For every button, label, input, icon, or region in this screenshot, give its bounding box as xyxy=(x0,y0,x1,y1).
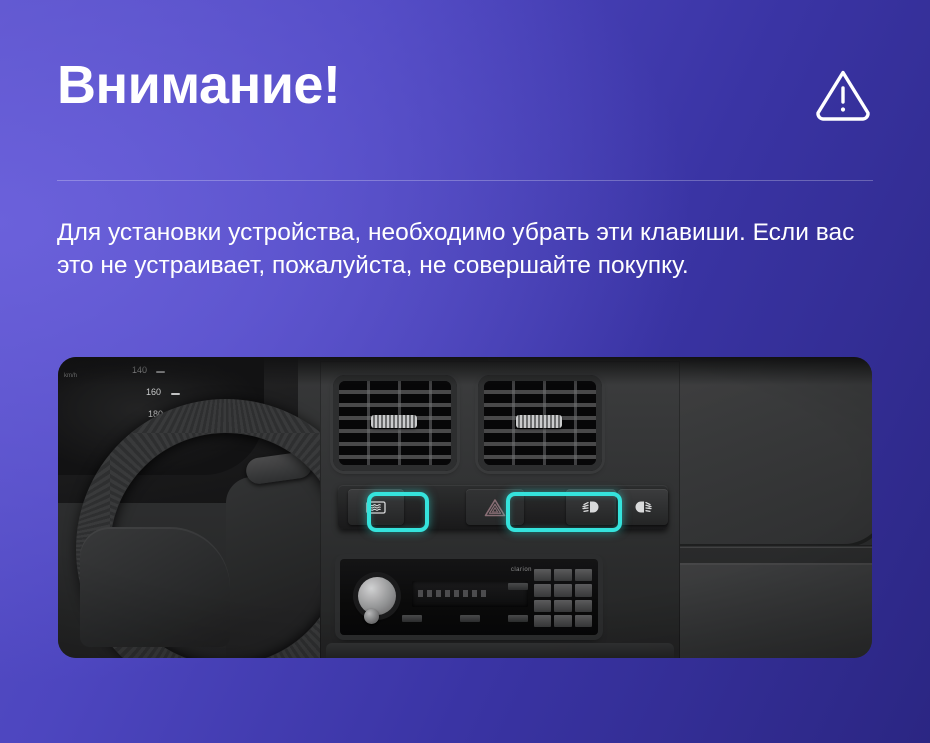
stereo-preset-button[interactable] xyxy=(554,600,571,612)
stereo-preset-button[interactable] xyxy=(554,584,571,596)
hazard-triangle-icon xyxy=(484,498,506,517)
air-vent-right xyxy=(478,375,602,471)
stereo-brand-label: clarion xyxy=(511,567,532,573)
speed-tick-160: 160 xyxy=(146,387,161,397)
vent-adjust-knob xyxy=(516,415,562,428)
warning-slide: Внимание! Для установки устройства, необ… xyxy=(0,0,930,743)
stereo-side-button[interactable] xyxy=(508,583,528,590)
stereo-preset-buttons[interactable] xyxy=(534,569,592,627)
hazard-lights-key[interactable] xyxy=(466,489,524,525)
warning-triangle-icon xyxy=(813,66,873,122)
stereo-preset-button[interactable] xyxy=(575,569,592,581)
volume-knob[interactable] xyxy=(358,577,396,615)
stereo-preset-button[interactable] xyxy=(534,600,551,612)
header: Внимание! xyxy=(57,52,873,132)
rear-defroster-icon xyxy=(366,501,386,514)
speed-tick-dash xyxy=(171,393,180,395)
stereo-preset-button[interactable] xyxy=(534,584,551,596)
photo-scene: km/h 140 160 180 200 xyxy=(58,357,872,658)
stereo-preset-button[interactable] xyxy=(575,584,592,596)
body-paragraph: Для установки устройства, необходимо убр… xyxy=(57,216,867,282)
front-fog-light-key[interactable] xyxy=(566,489,616,525)
dashboard-top-shadow xyxy=(58,357,872,385)
dashboard-photo: km/h 140 160 180 200 xyxy=(58,357,872,658)
divider xyxy=(57,180,873,181)
rear-defroster-key[interactable] xyxy=(348,489,404,525)
air-vent-left xyxy=(333,375,457,471)
stereo-preset-button[interactable] xyxy=(554,569,571,581)
car-stereo-head-unit[interactable]: clarion xyxy=(340,559,598,635)
stereo-side-button[interactable] xyxy=(508,615,528,622)
stereo-preset-button[interactable] xyxy=(554,615,571,627)
stereo-preset-button[interactable] xyxy=(575,600,592,612)
stereo-preset-button[interactable] xyxy=(575,615,592,627)
steering-wheel-spoke xyxy=(80,527,230,647)
stereo-preset-button[interactable] xyxy=(534,569,551,581)
page-title: Внимание! xyxy=(57,52,340,118)
stereo-side-button[interactable] xyxy=(460,615,480,622)
front-fog-lamp-icon xyxy=(580,500,602,514)
console-lower-bezel xyxy=(326,643,674,658)
dashboard-key-row xyxy=(338,485,668,529)
stereo-side-button[interactable] xyxy=(402,615,422,622)
vent-adjust-knob xyxy=(371,415,417,428)
secondary-knob[interactable] xyxy=(364,609,379,624)
rear-fog-lamp-icon xyxy=(632,500,654,514)
rear-fog-light-key[interactable] xyxy=(618,489,668,525)
stereo-preset-button[interactable] xyxy=(534,615,551,627)
